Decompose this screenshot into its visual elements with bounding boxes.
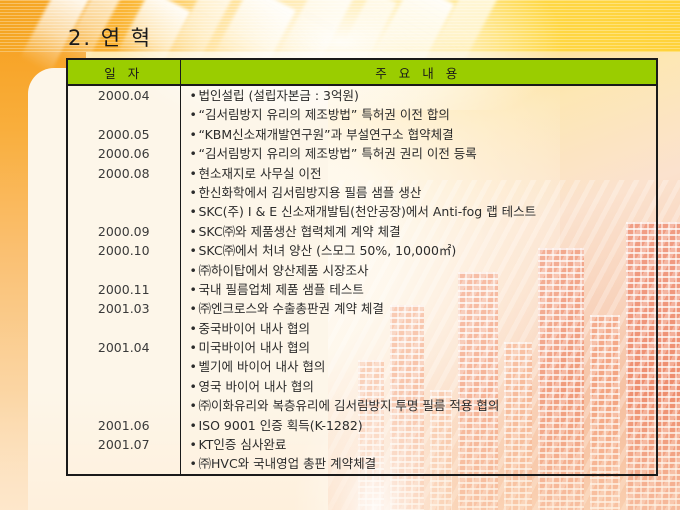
history-item-label: 중국바이어 내사 협의 [199, 321, 310, 336]
bullet-icon: • [190, 241, 199, 260]
history-date: 2001.07 [68, 435, 180, 454]
history-item-label: ㈜이화유리와 복층유리에 김서림방지 투명 필름 적용 협의 [199, 398, 500, 413]
history-item: •한신화학에서 김서림방지용 필름 샘플 생산 [181, 183, 657, 202]
company-history-table: 일 자 주 요 내 용 2000.04 2000.052000.062000.0… [66, 58, 658, 476]
column-header-content: 주 요 내 용 [180, 59, 657, 85]
history-item-label: “김서림방지 유리의 제조방법” 특허권 권리 이전 등록 [199, 146, 477, 161]
history-item: •현소재지로 사무실 이전 [181, 164, 657, 183]
history-item: •KT인증 심사완료 [181, 435, 657, 454]
history-date [68, 319, 180, 338]
history-item: •㈜HVC와 국내영업 총판 계약체결 [181, 454, 657, 473]
bullet-icon: • [190, 454, 199, 473]
history-date: 2000.11 [68, 280, 180, 299]
table-header-row: 일 자 주 요 내 용 [67, 59, 657, 85]
bullet-icon: • [190, 261, 199, 280]
history-item-label: ISO 9001 인증 획득(K-1282) [199, 418, 363, 433]
history-item: •영국 바이어 내사 협의 [181, 377, 657, 396]
history-item: •㈜하이탑에서 양산제품 시장조사 [181, 261, 657, 280]
history-item-label: 영국 바이어 내사 협의 [199, 379, 314, 394]
table-body-row: 2000.04 2000.052000.062000.08 2000.09200… [67, 85, 657, 475]
bullet-icon: • [190, 435, 199, 454]
bullet-icon: • [190, 377, 199, 396]
history-item-label: 벨기에 바이어 내사 협의 [199, 359, 326, 374]
history-date: 2000.08 [68, 164, 180, 183]
history-item: •법인설립 (설립자본금 : 3억원) [181, 86, 657, 105]
history-item-label: 현소재지로 사무실 이전 [199, 166, 322, 181]
bullet-icon: • [190, 416, 199, 435]
history-date [68, 183, 180, 202]
bullet-icon: • [190, 299, 199, 318]
history-item: •중국바이어 내사 협의 [181, 319, 657, 338]
history-date: 2001.06 [68, 416, 180, 435]
history-date: 2000.09 [68, 222, 180, 241]
history-date [68, 261, 180, 280]
history-item: •미국바이어 내사 협의 [181, 338, 657, 357]
history-item: •“김서림방지 유리의 제조방법” 특허권 권리 이전 등록 [181, 144, 657, 163]
bullet-icon: • [190, 183, 199, 202]
bullet-icon: • [190, 164, 199, 183]
history-date [68, 105, 180, 124]
content-column-cell: •법인설립 (설립자본금 : 3억원)•“김서림방지 유리의 제조방법” 특허권… [180, 85, 657, 475]
history-item: •ISO 9001 인증 획득(K-1282) [181, 416, 657, 435]
bullet-icon: • [190, 222, 199, 241]
history-item: •“KBM신소재개발연구원”과 부설연구소 협약체결 [181, 125, 657, 144]
history-date [68, 377, 180, 396]
history-item-label: ㈜엔크로스와 수출총판권 계약 체결 [199, 301, 384, 316]
history-item: •국내 필름업체 제품 샘플 테스트 [181, 280, 657, 299]
history-item-label: ㈜하이탑에서 양산제품 시장조사 [199, 263, 369, 278]
history-date: 2000.10 [68, 241, 180, 260]
history-item-label: 한신화학에서 김서림방지용 필름 샘플 생산 [199, 185, 422, 200]
bullet-icon: • [190, 125, 199, 144]
history-item: •SKC㈜와 제품생산 협력체계 계약 체결 [181, 222, 657, 241]
history-item: •SKC(주) I & E 신소재개발팀(천안공장)에서 Anti-fog 랩 … [181, 202, 657, 221]
history-item-label: “김서림방지 유리의 제조방법” 특허권 이전 합의 [199, 107, 450, 122]
history-item-label: SKC㈜에서 처녀 양산 (스모그 50%, 10,000㎡) [199, 243, 457, 258]
history-item-label: 미국바이어 내사 협의 [199, 340, 310, 355]
slide-canvas: 2. 연 혁 일 자 주 요 내 용 2000.04 2000.052000.0… [0, 0, 680, 510]
history-item: •㈜엔크로스와 수출총판권 계약 체결 [181, 299, 657, 318]
bullet-icon: • [190, 357, 199, 376]
history-item: •“김서림방지 유리의 제조방법” 특허권 이전 합의 [181, 105, 657, 124]
history-item: •㈜이화유리와 복층유리에 김서림방지 투명 필름 적용 협의 [181, 396, 657, 415]
history-date: 2000.05 [68, 125, 180, 144]
bullet-icon: • [190, 105, 199, 124]
history-item-label: KT인증 심사완료 [199, 437, 287, 452]
bullet-icon: • [190, 86, 199, 105]
history-date [68, 357, 180, 376]
bullet-icon: • [190, 396, 199, 415]
history-item-label: ㈜HVC와 국내영업 총판 계약체결 [199, 456, 377, 471]
history-date [68, 454, 180, 473]
bullet-icon: • [190, 319, 199, 338]
history-item-label: 법인설립 (설립자본금 : 3억원) [199, 88, 359, 103]
history-date: 2000.04 [68, 86, 180, 105]
bullet-icon: • [190, 338, 199, 357]
history-date [68, 396, 180, 415]
date-column-cell: 2000.04 2000.052000.062000.08 2000.09200… [67, 85, 180, 475]
history-item-label: SKC(주) I & E 신소재개발팀(천안공장)에서 Anti-fog 랩 테… [199, 204, 537, 219]
history-date: 2000.06 [68, 144, 180, 163]
bullet-icon: • [190, 280, 199, 299]
history-item-label: SKC㈜와 제품생산 협력체계 계약 체결 [199, 224, 401, 239]
history-item-label: 국내 필름업체 제품 샘플 테스트 [199, 282, 364, 297]
history-item: •SKC㈜에서 처녀 양산 (스모그 50%, 10,000㎡) [181, 241, 657, 260]
bullet-icon: • [190, 144, 199, 163]
page-title: 2. 연 혁 [68, 22, 152, 52]
history-date: 2001.04 [68, 338, 180, 357]
bullet-icon: • [190, 202, 199, 221]
history-item-label: “KBM신소재개발연구원”과 부설연구소 협약체결 [199, 127, 454, 142]
history-date [68, 202, 180, 221]
column-header-date: 일 자 [67, 59, 180, 85]
history-item: •벨기에 바이어 내사 협의 [181, 357, 657, 376]
history-date: 2001.03 [68, 299, 180, 318]
